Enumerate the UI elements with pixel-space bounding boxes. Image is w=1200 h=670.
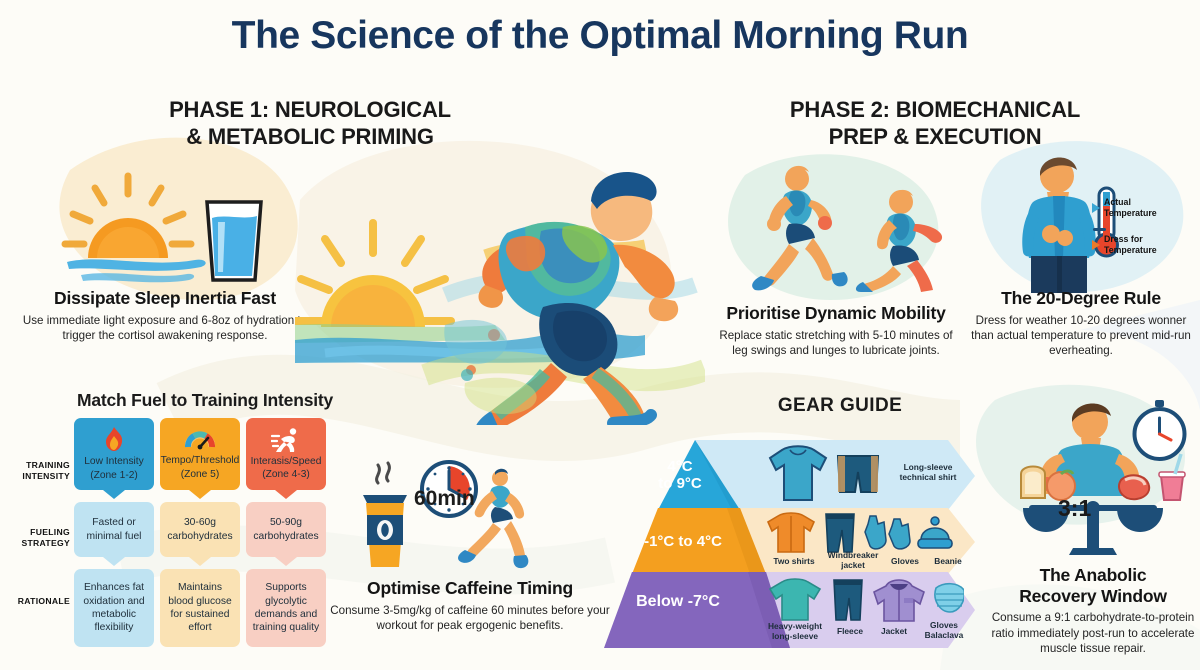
gear-tier-1-label-l1: Long-sleeve (892, 462, 964, 472)
infographic-canvas: The Science of the Optimal Morning Run P… (0, 0, 1200, 670)
fuel-strategy-speed-l2: carbohydrates (253, 530, 318, 543)
hero-sun-icon (295, 223, 451, 327)
gloves-icon (865, 516, 910, 549)
gear-tier-2-label-windbreaker: Windbreaker jacket (822, 550, 884, 570)
gear-tier-1-items (760, 442, 890, 508)
gear-tier-3-label-3b: Balaclava (916, 630, 972, 640)
gauge-icon (185, 427, 215, 451)
fuel-strategy-cell-low: Fasted or minimal fuel (74, 502, 154, 557)
smoothie-icon (1159, 454, 1185, 500)
gear-tier-3-label-3a: Gloves (916, 620, 972, 630)
gear-tier-2-label-0: Two shirts (766, 556, 822, 566)
gear-tier-2-temperature: -1°C to 4°C (618, 533, 748, 550)
degree-rule-card: The 20-Degree Rule Dress for weather 10-… (965, 288, 1197, 359)
notch-speed-strategy (275, 557, 297, 566)
fuel-strategy-cell-speed: 50-90g carbohydrates (246, 502, 326, 557)
gear-tier-3-label-jacket: Jacket (872, 626, 916, 636)
mobility-runner-b (856, 190, 942, 292)
fuel-strategy-cell-tempo: 30-60g carbohydrates (160, 502, 240, 557)
row-label-training-intensity: TRAINING INTENSITY (8, 460, 70, 481)
fuel-matrix-title: Match Fuel to Training Intensity (60, 390, 350, 411)
fuel-rationale-cell-low: Enhances fat oxidation and metabolic fle… (74, 569, 154, 647)
gear-tier-1-temperature: 4°C to 9°C (640, 458, 720, 493)
gear-tier-2-label-gloves: Gloves (884, 556, 926, 566)
row-label-rationale: RATIONALE (8, 596, 70, 607)
sleep-inertia-card: Dissipate Sleep Inertia Fast Use immedia… (22, 288, 308, 343)
gear-tier-3-label-balaclava: Gloves Balaclava (916, 620, 972, 640)
row-label-fueling-strategy: FUELING STRATEGY (8, 527, 70, 548)
fuel-rationale-cell-speed: Supports glycolytic demands and training… (246, 569, 326, 647)
gear-tier-2-temp-l1: -1°C to 4°C (618, 533, 748, 550)
water-glass-icon (207, 202, 261, 280)
mobility-body: Replace static stretching with 5-10 minu… (712, 328, 960, 359)
steam-icon (377, 463, 390, 483)
degree-rule-heading: The 20-Degree Rule (965, 288, 1197, 309)
gear-tier-3-label-2: Jacket (872, 626, 916, 636)
fuel-intensity-low-l2: (Zone 1-2) (84, 469, 143, 482)
fuel-rationale-tempo-text: Maintains blood glucose for sustained ef… (164, 581, 236, 635)
notch-tempo-strategy (189, 557, 211, 566)
tshirt-icon (770, 579, 820, 620)
flame-icon (101, 426, 127, 452)
gear-tier-2-label-3: Beanie (926, 556, 970, 566)
gear-tier-1-label: Long-sleeve technical shirt (892, 462, 964, 482)
stopwatch-icon (1135, 400, 1185, 459)
legend-dress-l1: Dress for (1104, 234, 1157, 245)
legend-dress-for-temperature: Dress for Temperature (1092, 234, 1157, 255)
fuel-intensity-speed-l2: (Zone 4-3) (251, 468, 322, 481)
fuel-head-cell-speed: Interasis/Speed (Zone 4-3) (246, 418, 326, 490)
row-label-training-intensity-l1: TRAINING (8, 460, 70, 471)
degree-rule-body: Dress for weather 10-20 degrees wonner t… (965, 313, 1197, 359)
caffeine-illustration (345, 455, 530, 575)
sun-icon (65, 176, 191, 258)
steak-icon (1119, 475, 1149, 499)
gear-tier-2-label-1b: jacket (822, 560, 884, 570)
caffeine-card: Optimise Caffeine Timing Consume 3-5mg/k… (330, 578, 610, 633)
fuel-intensity-tempo-l1: Tempo/Threshold (161, 454, 240, 467)
mobility-card: Prioritise Dynamic Mobility Replace stat… (712, 303, 960, 358)
fuel-intensity-tempo-l2: (Zone 5) (161, 468, 240, 481)
gear-tier-2-label-1a: Windbreaker (822, 550, 884, 560)
caffeine-body: Consume 3-5mg/kg of caffeine 60 minutes … (330, 603, 610, 634)
gear-guide-title: GEAR GUIDE (740, 395, 940, 417)
phase-1-line-1: PHASE 1: NEUROLOGICAL (90, 96, 530, 123)
shorts-icon (838, 456, 878, 492)
gear-tier-1-temp-l2: to 9°C (640, 475, 720, 492)
recovery-body: Consume a 9:1 carbohydrate-to-protein ra… (990, 610, 1196, 656)
notch-tempo-head (189, 490, 211, 499)
phase-2-line-2: PREP & EXECUTION (740, 123, 1130, 150)
fuel-intensity-speed-l1: Interasis/Speed (251, 455, 322, 468)
fuel-intensity-low-l1: Low Intensity (84, 455, 143, 468)
dressed-runner-illustration (995, 148, 1125, 293)
fuel-head-cell-low-intensity: Low Intensity (Zone 1-2) (74, 418, 154, 490)
gear-tier-3-temp-l1: Below -7°C (608, 593, 748, 611)
legend-dress-marker-icon (1092, 240, 1100, 250)
runner-icon (271, 427, 301, 452)
legend-actual-l1: Actual (1104, 197, 1157, 208)
recovery-card: The Anabolic Recovery Window Consume a 9… (990, 565, 1196, 657)
mobility-heading: Prioritise Dynamic Mobility (712, 303, 960, 324)
jersey-icon (768, 513, 814, 552)
sleep-inertia-body: Use immediate light exposure and 6-8oz o… (22, 313, 308, 344)
page-title: The Science of the Optimal Morning Run (0, 14, 1200, 58)
recovery-illustration (995, 392, 1195, 557)
gear-tier-2-label-two-shirts: Two shirts (766, 556, 822, 566)
legend-actual-l2: Temperature (1104, 208, 1157, 219)
long-sleeve-shirt-icon (770, 446, 826, 500)
mobility-runner-a (752, 166, 848, 291)
sunrise-water-illustration (55, 168, 285, 293)
gear-tier-3-label-0a: Heavy-weight (762, 621, 828, 631)
fuel-strategy-speed-l1: 50-90g (253, 516, 318, 529)
row-label-fueling-strategy-l2: STRATEGY (8, 538, 70, 549)
hooded-jacket-icon (874, 580, 924, 621)
recovery-heading-l2: Recovery Window (990, 586, 1196, 607)
row-label-rationale-l1: RATIONALE (8, 596, 70, 607)
legend-dress-l2: Temperature (1104, 245, 1157, 256)
caffeine-timer-label: 60min (414, 487, 475, 511)
fuel-strategy-tempo-l1: 30-60g (167, 516, 232, 529)
gear-tier-2-label-2: Gloves (884, 556, 926, 566)
row-label-training-intensity-l2: INTENSITY (8, 471, 70, 482)
bread-icon (1021, 467, 1045, 499)
fuel-rationale-speed-text: Supports glycolytic demands and training… (250, 581, 322, 635)
notch-low-strategy (103, 557, 125, 566)
gear-tier-3-temperature: Below -7°C (608, 593, 748, 611)
gear-tier-3-label-1: Fleece (828, 626, 872, 636)
balaclava-icon (935, 584, 964, 612)
fuel-head-cell-tempo: Tempo/Threshold (Zone 5) (160, 418, 240, 490)
beanie-icon (918, 517, 952, 548)
legend-actual-marker-icon (1092, 203, 1100, 213)
water-icon (67, 259, 206, 282)
fuel-strategy-tempo-l2: carbohydrates (167, 530, 232, 543)
gear-tier-3-label-heavy: Heavy-weight long-sleeve (762, 621, 828, 641)
gear-tier-1-label-l2: technical shirt (892, 472, 964, 482)
fleece-pants-icon (834, 580, 862, 620)
dressed-runner-figure (1022, 157, 1096, 293)
gear-tier-3-label-fleece: Fleece (828, 626, 872, 636)
sleep-inertia-heading: Dissipate Sleep Inertia Fast (22, 288, 308, 309)
coffee-cup-icon (363, 495, 407, 567)
legend-divider (1093, 228, 1106, 231)
fuel-strategy-low-l2: minimal fuel (87, 530, 142, 543)
hero-runner-illustration (295, 135, 705, 425)
caffeine-heading: Optimise Caffeine Timing (330, 578, 610, 599)
legend-actual-temperature: Actual Temperature (1092, 197, 1157, 218)
gear-tier-3-items (768, 576, 964, 624)
fuel-rationale-cell-tempo: Maintains blood glucose for sustained ef… (160, 569, 240, 647)
notch-low-head (103, 490, 125, 499)
gear-tier-3-label-0b: long-sleeve (762, 631, 828, 641)
dynamic-mobility-illustration (745, 152, 960, 292)
gear-tier-1-temp-l1: 4°C (640, 458, 720, 475)
recovery-heading-l1: The Anabolic (990, 565, 1196, 586)
gear-tier-2-label-beanie: Beanie (926, 556, 970, 566)
recovery-ratio-badge: 3:1 (1058, 495, 1091, 522)
fuel-strategy-low-l1: Fasted or (87, 516, 142, 529)
fuel-rationale-low-text: Enhances fat oxidation and metabolic fle… (78, 581, 150, 635)
phase-2-heading: PHASE 2: BIOMECHANICAL PREP & EXECUTION (740, 96, 1130, 151)
notch-speed-head (275, 490, 297, 499)
row-label-fueling-strategy-l1: FUELING (8, 527, 70, 538)
pants-icon (826, 514, 854, 552)
phase-2-line-1: PHASE 2: BIOMECHANICAL (740, 96, 1130, 123)
